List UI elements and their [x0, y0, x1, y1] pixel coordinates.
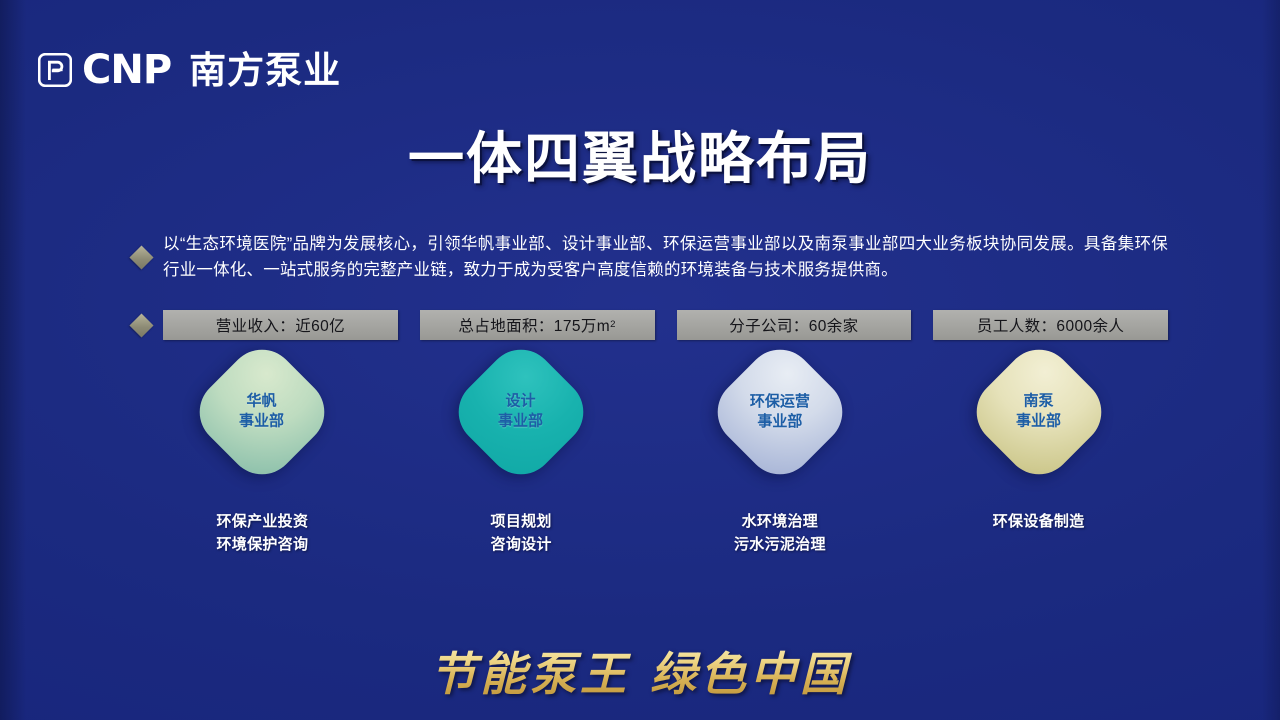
slide-root: CNP 南方泵业 一体四翼战略布局 以“生态环境医院”品牌为发展核心，引领华帆事… [0, 0, 1280, 720]
division-card-list: 华帆 事业部 环保产业投资 环境保护咨询 设计 事业部 项目规划 咨询设计 [133, 358, 1168, 557]
division-card-huanbao: 环保运营 事业部 水环境治理 污水污泥治理 [651, 358, 910, 557]
page-title: 一体四翼战略布局 [0, 128, 1280, 190]
division-caption-line2: 咨询设计 [491, 533, 552, 556]
division-diamond-label: 设计 事业部 [499, 392, 544, 433]
brand-latin-name: CNP [82, 50, 171, 90]
division-label-line2: 事业部 [499, 412, 544, 432]
slogan: 节能泵王 绿色中国 [0, 638, 1280, 704]
division-diamond-nanbeng: 南泵 事业部 [962, 336, 1115, 489]
division-caption-line2: 环境保护咨询 [216, 533, 308, 556]
intro-text: 以“生态环境医院”品牌为发展核心，引领华帆事业部、设计事业部、环保运营事业部以及… [163, 231, 1168, 284]
division-caption-line1: 环保设备制造 [993, 510, 1085, 533]
division-caption: 环保产业投资 环境保护咨询 [216, 510, 308, 557]
division-card-huafan: 华帆 事业部 环保产业投资 环境保护咨询 [133, 358, 392, 557]
division-caption-line2: 污水污泥治理 [734, 533, 826, 556]
division-caption-line1: 环保产业投资 [216, 510, 308, 533]
division-diamond-sheji: 设计 事业部 [445, 336, 598, 489]
intro-block: 以“生态环境医院”品牌为发展核心，引领华帆事业部、设计事业部、环保运营事业部以及… [133, 214, 1168, 300]
division-label-line1: 华帆 [240, 392, 285, 412]
stat-badge-list: 营业收入：近60亿 总占地面积：175万m2 分子公司：60余家 员工人数：60… [163, 310, 1168, 340]
division-label-line1: 设计 [499, 392, 544, 412]
division-diamond-label: 环保运营 事业部 [750, 392, 810, 433]
division-diamond-huafan: 华帆 事业部 [186, 336, 339, 489]
brand-chinese-name: 南方泵业 [189, 52, 341, 89]
division-label-line1: 南泵 [1016, 392, 1061, 412]
stat-badge: 营业收入：近60亿 [163, 310, 398, 340]
stat-badge-text: 总占地面积：175万m [458, 314, 610, 336]
stat-badge: 员工人数：6000余人 [933, 310, 1168, 340]
division-label-line2: 事业部 [240, 412, 285, 432]
division-label-line2: 事业部 [750, 412, 810, 432]
stat-badge: 总占地面积：175万m2 [420, 310, 655, 340]
diamond-bullet-icon [129, 313, 153, 337]
division-diamond-huanbao: 环保运营 事业部 [704, 336, 857, 489]
division-caption: 水环境治理 污水污泥治理 [734, 510, 826, 557]
division-caption-line1: 水环境治理 [734, 510, 826, 533]
division-card-sheji: 设计 事业部 项目规划 咨询设计 [392, 358, 651, 557]
diamond-bullet-icon [129, 245, 153, 269]
stat-badge-text: 营业收入：近60亿 [216, 314, 345, 336]
brand-logo: CNP 南方泵业 [38, 50, 341, 90]
stat-badge-text: 员工人数：6000余人 [977, 314, 1124, 336]
cnp-logo-icon [38, 53, 72, 87]
division-caption: 项目规划 咨询设计 [491, 510, 552, 557]
division-caption: 环保设备制造 [993, 510, 1085, 533]
stat-badge-text: 分子公司：60余家 [729, 314, 858, 336]
stats-block: 营业收入：近60亿 总占地面积：175万m2 分子公司：60余家 员工人数：60… [133, 310, 1168, 340]
division-diamond-label: 南泵 事业部 [1016, 392, 1061, 433]
division-card-nanbeng: 南泵 事业部 环保设备制造 [909, 358, 1168, 557]
division-diamond-label: 华帆 事业部 [240, 392, 285, 433]
division-label-line2: 事业部 [1016, 412, 1061, 432]
division-label-line1: 环保运营 [750, 392, 810, 412]
division-caption-line1: 项目规划 [491, 510, 552, 533]
stat-badge: 分子公司：60余家 [677, 310, 912, 340]
